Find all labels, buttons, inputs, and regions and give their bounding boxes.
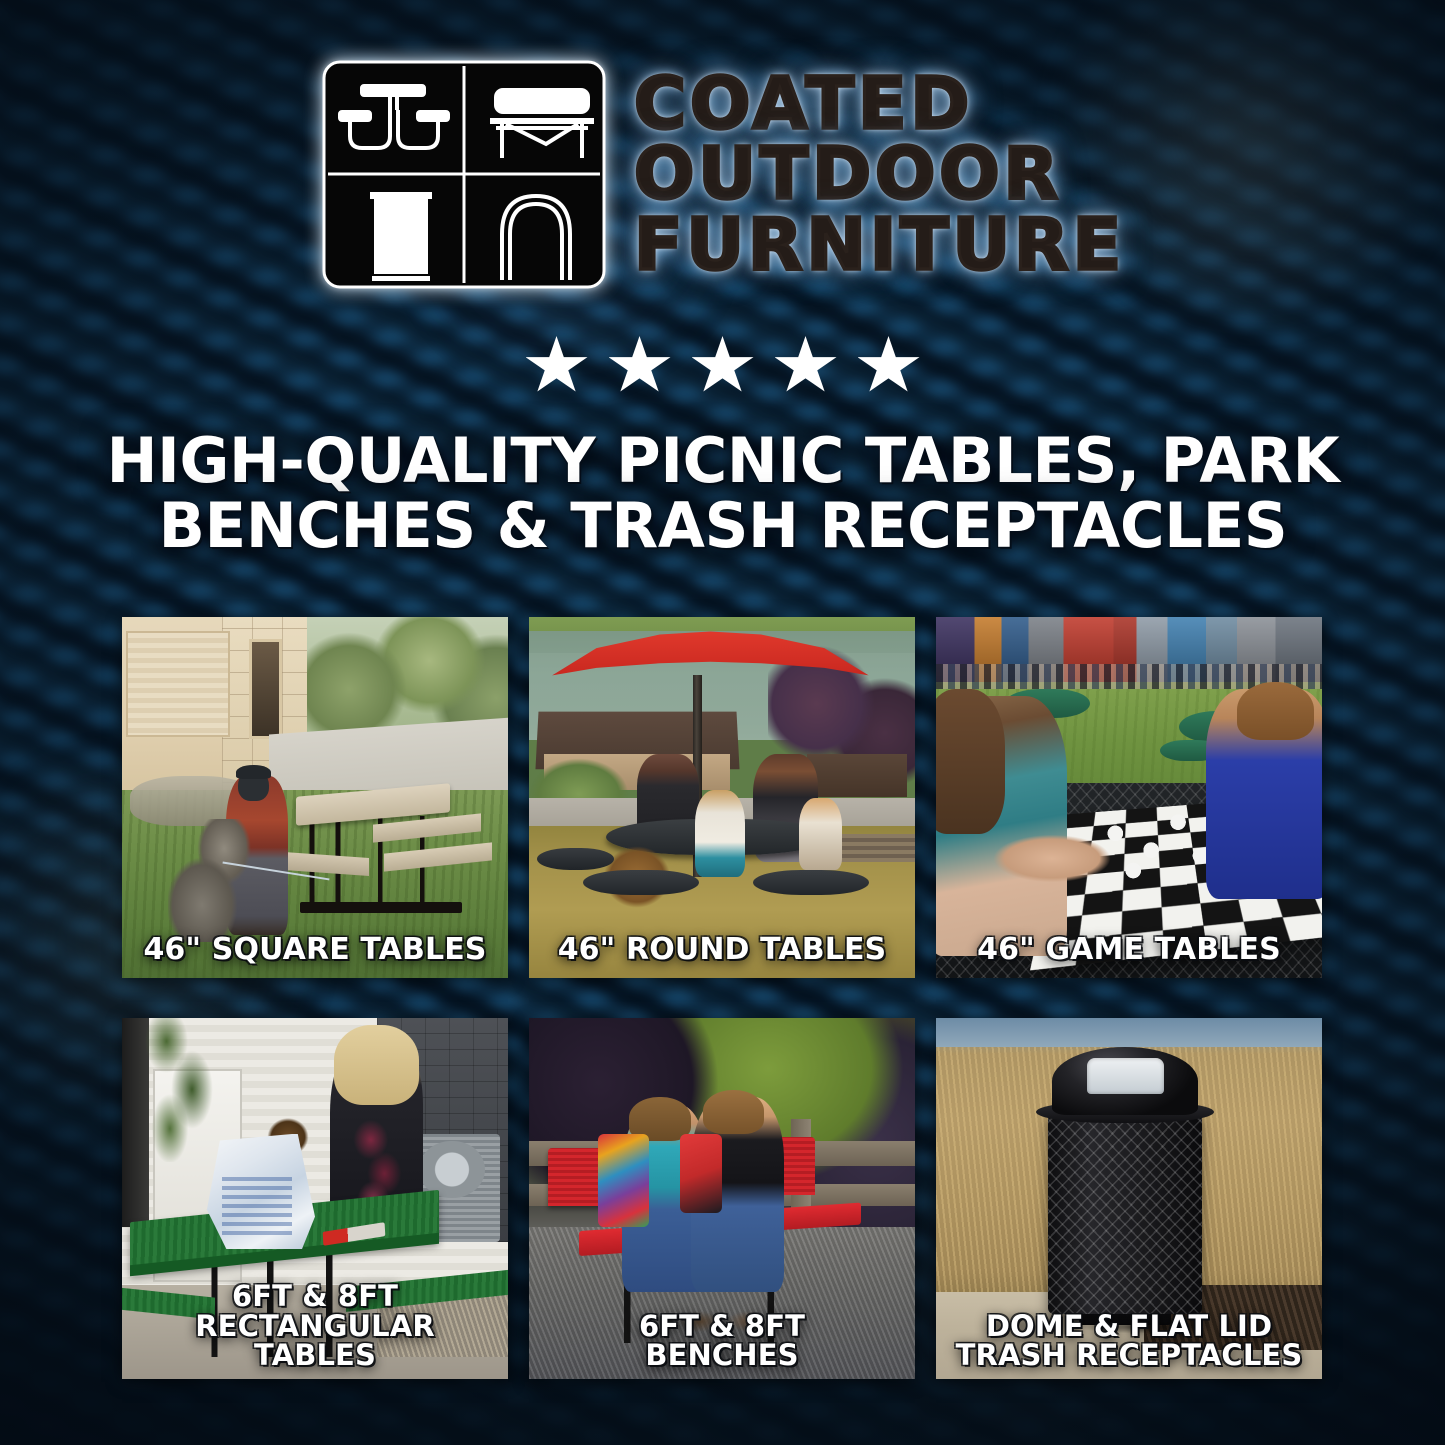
poster-canvas: COATED OUTDOOR FURNITURE HIGH-QUALITY PI… xyxy=(0,0,1445,1445)
product-caption-line-2: RECTANGULAR TABLES xyxy=(130,1312,500,1371)
product-caption: 46" GAME TABLES xyxy=(936,935,1322,966)
product-tile-round-tables[interactable]: 46" ROUND TABLES xyxy=(529,617,915,978)
product-tile-trash-receptacles[interactable]: DOME & FLAT LID TRASH RECEPTACLES xyxy=(936,1018,1322,1379)
headline-line-2: BENCHES & TRASH RECEPTACLES xyxy=(86,493,1360,558)
product-caption: 6FT & 8FT RECTANGULAR TABLES xyxy=(122,1282,508,1371)
product-caption: 46" ROUND TABLES xyxy=(529,935,915,966)
brand-name-line-3: FURNITURE xyxy=(634,211,1125,279)
brand-name-line-2: OUTDOOR xyxy=(634,140,1062,208)
product-tile-square-tables[interactable]: 46" SQUARE TABLES xyxy=(122,617,508,978)
square-picnic-table-photo xyxy=(122,617,508,978)
headline: HIGH-QUALITY PICNIC TABLES, PARK BENCHES… xyxy=(73,428,1373,558)
star-icon xyxy=(858,336,920,396)
trash-receptacle-icon xyxy=(370,192,432,281)
product-tile-game-tables[interactable]: 46" GAME TABLES xyxy=(936,617,1322,978)
product-caption-line-1: 6FT & 8FT xyxy=(130,1282,500,1312)
star-icon xyxy=(526,336,588,396)
star-icon xyxy=(692,336,754,396)
star-rating xyxy=(0,336,1445,396)
product-caption-line-2: TRASH RECEPTACLES xyxy=(944,1341,1314,1371)
star-icon xyxy=(609,336,671,396)
product-caption: DOME & FLAT LID TRASH RECEPTACLES xyxy=(936,1312,1322,1371)
game-table-photo xyxy=(936,617,1322,978)
product-tile-benches[interactable]: 6FT & 8FT BENCHES xyxy=(529,1018,915,1379)
star-icon xyxy=(775,336,837,396)
product-tile-rectangular-tables[interactable]: 6FT & 8FT RECTANGULAR TABLES xyxy=(122,1018,508,1379)
product-caption-line-1: DOME & FLAT LID xyxy=(944,1312,1314,1342)
product-caption-line-1: 6FT & 8FT xyxy=(537,1312,907,1342)
product-caption: 6FT & 8FT BENCHES xyxy=(529,1312,915,1371)
headline-line-1: HIGH-QUALITY PICNIC TABLES, PARK xyxy=(86,428,1360,493)
brand-name-line-1: COATED xyxy=(634,70,973,138)
product-caption: 46" SQUARE TABLES xyxy=(122,935,508,966)
brand-logo-row: COATED OUTDOOR FURNITURE xyxy=(0,58,1445,291)
brand-wordmark: COATED OUTDOOR FURNITURE xyxy=(634,70,1125,278)
product-caption-line-2: BENCHES xyxy=(537,1341,907,1371)
round-picnic-table-photo xyxy=(529,617,915,978)
product-grid: 46" SQUARE TABLES 46" ROUND TABLES xyxy=(122,617,1327,1379)
brand-logo-mark xyxy=(320,58,608,291)
